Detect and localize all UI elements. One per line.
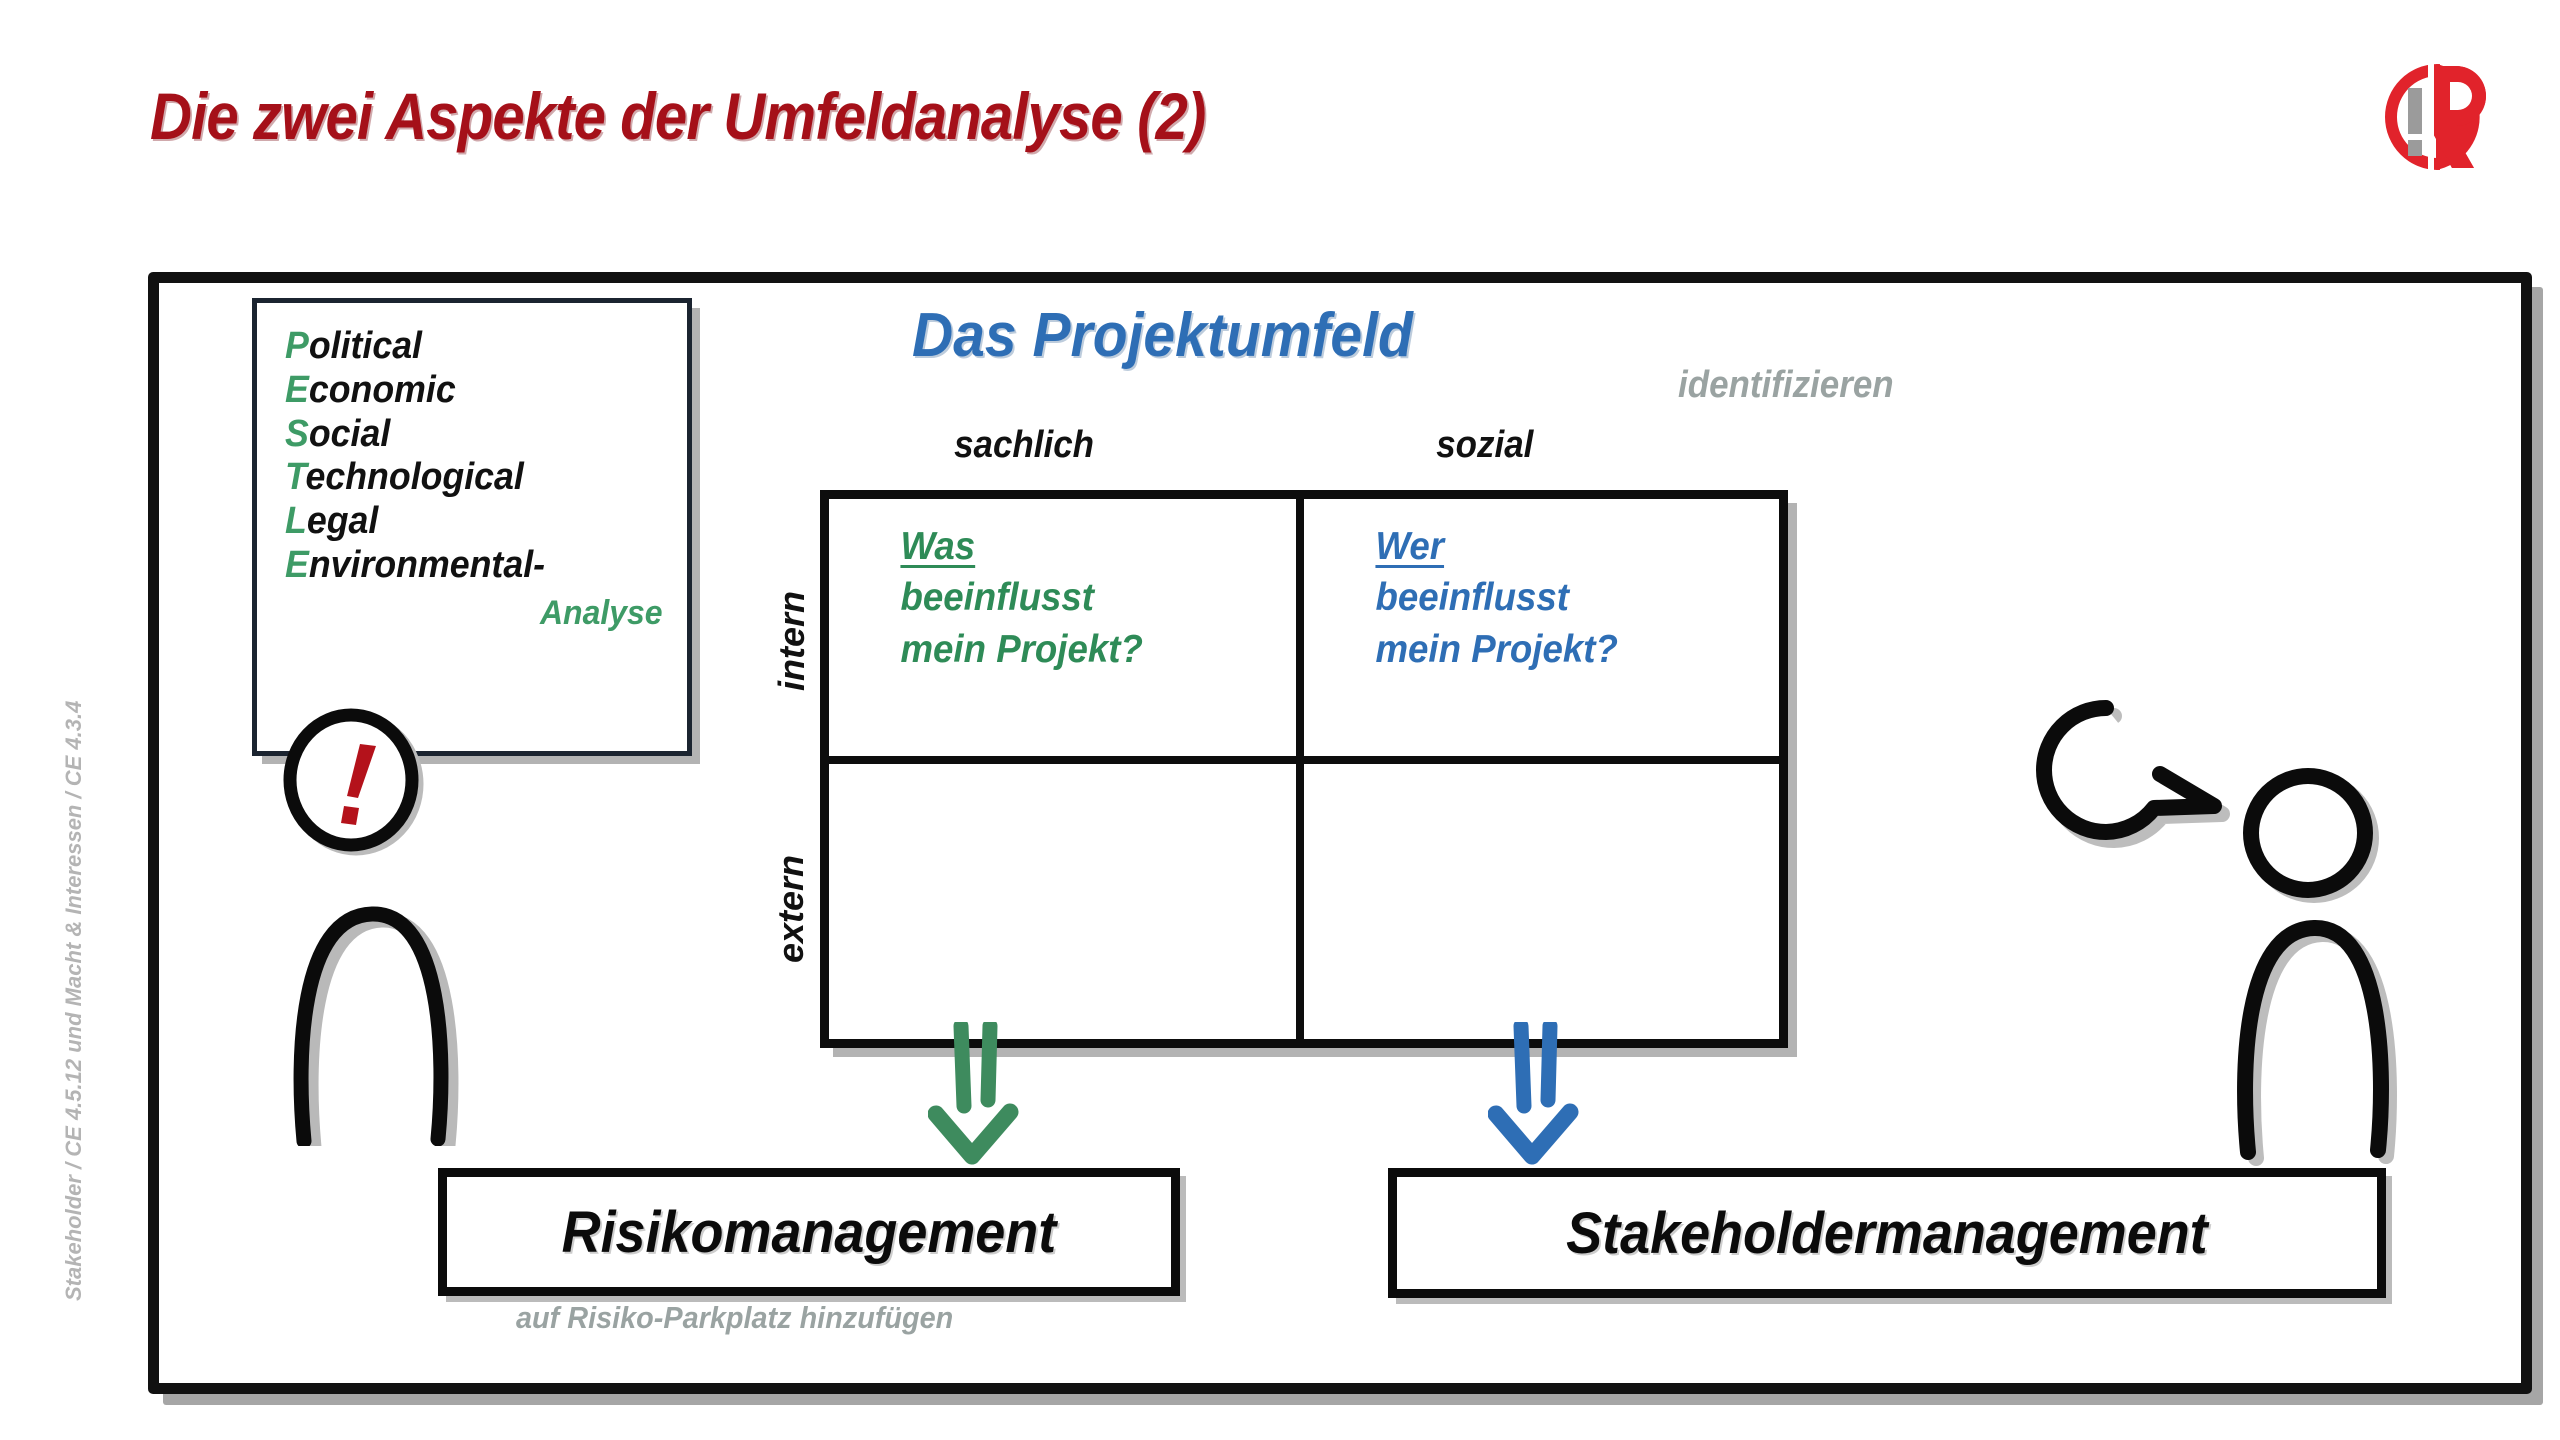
risk-parking-note: auf Risiko-Parkplatz hinzufügen — [516, 1300, 953, 1336]
matrix-cell-text: Was beeinflusst mein Projekt? — [829, 499, 1268, 675]
arrow-down-stakeholder-icon — [1488, 1022, 1628, 1182]
pestle-item-environmental: Environmental- — [285, 544, 663, 588]
r-exclamation-logo — [2378, 58, 2498, 176]
column-header-sozial: sozial — [1436, 424, 1533, 467]
matrix-cell-line2: beeinflusst — [900, 576, 1094, 619]
matrix-cell-extern-sozial[interactable] — [1304, 764, 1779, 1039]
pestle-item-label: conomic — [309, 369, 456, 411]
pestle-lead-letter: P — [285, 325, 309, 367]
pestle-item-label: olitical — [309, 325, 422, 367]
matrix-cell-text — [1304, 764, 1751, 786]
matrix-cell-keyword: Wer — [1375, 525, 1444, 568]
pestle-item-label: ocial — [309, 413, 390, 455]
projektumfeld-heading: Das Projektumfeld — [912, 300, 1413, 371]
matrix-cell-intern-sachlich[interactable]: Was beeinflusst mein Projekt? — [829, 499, 1304, 764]
projektumfeld-matrix: Was beeinflusst mein Projekt? Wer beeinf… — [820, 490, 1788, 1048]
pestle-lead-letter: T — [285, 456, 306, 498]
matrix-cell-text — [829, 764, 1268, 786]
slide-canvas: Die zwei Aspekte der Umfeldanalyse (2) S… — [0, 0, 2560, 1440]
pestle-lead-letter: E — [285, 369, 309, 411]
page-title: Die zwei Aspekte der Umfeldanalyse (2) — [150, 78, 1205, 154]
stick-figure-with-speech-bubble — [2026, 690, 2446, 1170]
pestle-card: Political Economic Social Technological … — [252, 298, 692, 756]
row-label-intern: intern — [771, 571, 813, 711]
identifizieren-note: identifizieren — [1678, 364, 1894, 407]
pestle-list: Political Economic Social Technological … — [257, 303, 687, 633]
row-label-extern: extern — [770, 834, 812, 984]
pestle-item-legal: Legal — [285, 500, 663, 544]
matrix-cell-text: Wer beeinflusst mein Projekt? — [1304, 499, 1751, 675]
matrix-cell-line3: mein Projekt? — [900, 628, 1142, 671]
pestle-item-label: egal — [307, 500, 378, 542]
pestle-lead-letter: E — [285, 544, 309, 586]
pestle-item-economic: Economic — [285, 369, 663, 413]
side-reference-caption: Stakeholder / CE 4.5.12 und Macht & Inte… — [61, 661, 87, 1301]
pestle-item-label: echnological — [306, 456, 524, 498]
matrix-cell-intern-sozial[interactable]: Wer beeinflusst mein Projekt? — [1304, 499, 1779, 764]
outcome-label: Stakeholdermanagement — [1566, 1200, 2207, 1267]
pestle-item-social: Social — [285, 413, 663, 457]
matrix-cell-line3: mein Projekt? — [1375, 628, 1617, 671]
arrow-down-risk-icon — [928, 1022, 1068, 1182]
matrix-cell-line2: beeinflusst — [1375, 576, 1569, 619]
pestle-item-political: Political — [285, 325, 663, 369]
outcome-label: Risikomanagement — [562, 1199, 1057, 1266]
exclamation-circle-icon — [278, 706, 428, 856]
matrix-cell-keyword: Was — [900, 525, 975, 568]
pestle-suffix-label: Analyse — [309, 594, 687, 633]
outcome-box-risikomanagement[interactable]: Risikomanagement — [438, 1168, 1180, 1296]
pestle-item-label: nvironmental- — [309, 544, 545, 586]
stick-figure-body-left — [276, 856, 466, 1146]
pestle-lead-letter: L — [285, 500, 307, 542]
column-header-sachlich: sachlich — [954, 424, 1094, 467]
outcome-box-stakeholdermanagement[interactable]: Stakeholdermanagement — [1388, 1168, 2386, 1298]
pestle-lead-letter: S — [285, 413, 309, 455]
matrix-cell-extern-sachlich[interactable] — [829, 764, 1304, 1039]
pestle-item-technological: Technological — [285, 456, 663, 500]
